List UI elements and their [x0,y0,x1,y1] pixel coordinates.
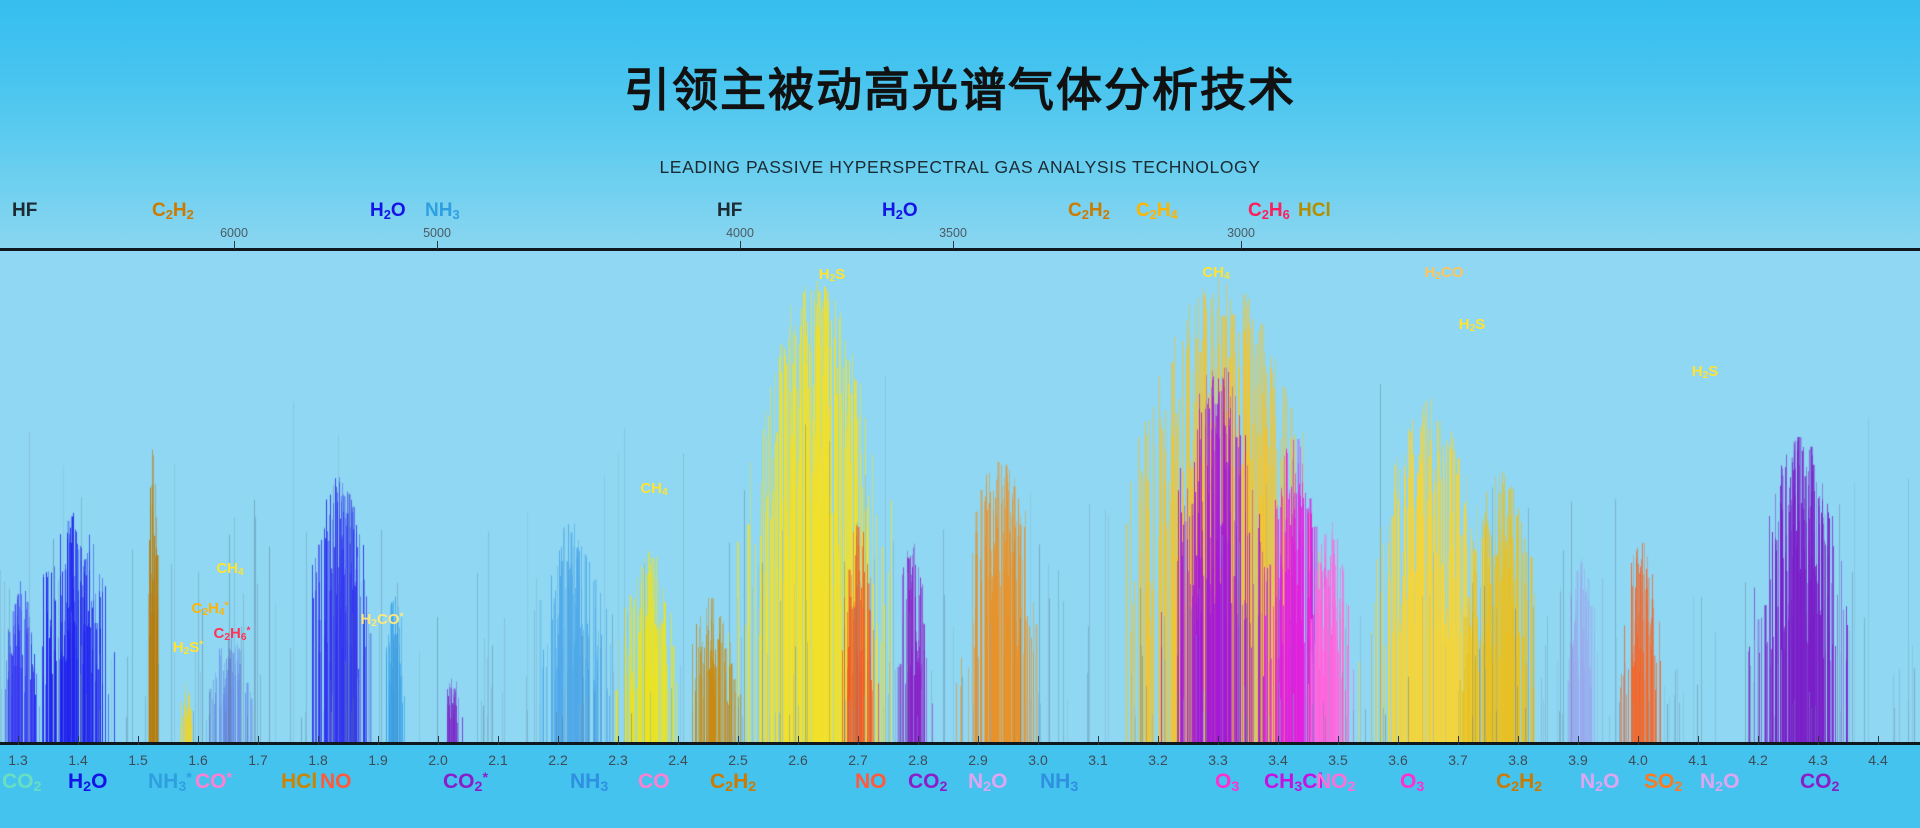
bottom-tick-mark [1398,736,1399,745]
bottom-tick-label: 4.2 [1748,752,1767,768]
bottom-species-label: NO [855,770,887,794]
bottom-species-label: C2H2 [710,770,756,795]
bottom-tick-label: 3.6 [1388,752,1407,768]
top-species-label: H2O [882,200,918,222]
top-species-label: HF [717,200,742,222]
top-tick-label: 3000 [1227,226,1255,240]
bottom-species-label: CO2* [443,770,488,795]
plot-annotation-label: C2H6* [214,625,251,643]
top-axis-line [0,248,1920,251]
bottom-tick-label: 3.2 [1148,752,1167,768]
bottom-tick-mark [918,736,919,745]
bottom-species-label: NH3* [148,770,192,795]
bottom-tick-label: 1.3 [8,752,27,768]
top-tick-mark [953,241,954,249]
sky-gradient-background [0,0,1920,249]
top-species-label: C2H6 [1248,200,1290,222]
bottom-tick-mark [1578,736,1579,745]
top-tick-label: 4000 [726,226,754,240]
bottom-tick-label: 3.5 [1328,752,1347,768]
bottom-tick-label: 3.8 [1508,752,1527,768]
bottom-tick-mark [138,736,139,745]
bottom-tick-mark [1638,736,1639,745]
top-species-label: HF [12,200,37,222]
bottom-tick-mark [738,736,739,745]
top-tick-mark [1241,241,1242,249]
bottom-species-label: CO* [195,770,232,794]
bottom-species-label: CO [638,770,670,794]
bottom-tick-label: 3.3 [1208,752,1227,768]
bottom-tick-mark [18,736,19,745]
bottom-tick-mark [78,736,79,745]
plot-annotation-label: H2S* [173,639,204,657]
bottom-tick-label: 3.0 [1028,752,1047,768]
bottom-species-label: H2O [68,770,107,795]
bottom-tick-mark [1878,736,1879,745]
bottom-tick-label: 1.5 [128,752,147,768]
bottom-tick-mark [1098,736,1099,745]
plot-annotation-label: CH4 [640,480,667,498]
bottom-tick-label: 2.7 [848,752,867,768]
bottom-species-label: N2O [1580,770,1619,795]
bottom-tick-label: 4.4 [1868,752,1887,768]
bottom-species-label: CH3Cl [1264,770,1323,795]
bottom-tick-label: 1.8 [308,752,327,768]
bottom-tick-mark [438,736,439,745]
bottom-tick-mark [978,736,979,745]
bottom-tick-mark [678,736,679,745]
bottom-species-label: N2O [968,770,1007,795]
bottom-tick-label: 2.6 [788,752,807,768]
bottom-tick-label: 2.5 [728,752,747,768]
top-species-label: H2O [370,200,406,222]
bottom-species-label: CO2 [908,770,947,795]
bottom-tick-label: 2.3 [608,752,627,768]
plot-annotation-label: CH4 [216,560,243,578]
bottom-tick-label: 1.6 [188,752,207,768]
plot-annotation-label: CH4 [1202,264,1229,282]
bottom-tick-label: 2.0 [428,752,447,768]
bottom-tick-label: 4.0 [1628,752,1647,768]
bottom-tick-mark [798,736,799,745]
page-title: 引领主被动高光谱气体分析技术 [0,54,1920,120]
top-tick-mark [740,241,741,249]
plot-annotation-label: H2CO [1424,264,1463,282]
bottom-tick-mark [558,736,559,745]
bottom-species-label: N2O [1700,770,1739,795]
top-species-label: NH3 [425,200,460,222]
bottom-tick-mark [1758,736,1759,745]
slide-root: 引领主被动高光谱气体分析技术 LEADING PASSIVE HYPERSPEC… [0,0,1920,828]
bottom-tick-label: 2.1 [488,752,507,768]
bottom-species-label: NO [320,770,352,794]
bottom-tick-mark [318,736,319,745]
bottom-tick-label: 3.1 [1088,752,1107,768]
bottom-species-label: NO2 [1316,770,1355,795]
bottom-tick-label: 2.8 [908,752,927,768]
bottom-tick-label: 1.7 [248,752,267,768]
bottom-species-label: CO2 [2,770,41,795]
bottom-tick-mark [858,736,859,745]
top-tick-label: 6000 [220,226,248,240]
bottom-tick-label: 1.9 [368,752,387,768]
top-tick-label: 5000 [423,226,451,240]
top-species-label: C2H2 [1068,200,1110,222]
bottom-tick-label: 3.4 [1268,752,1287,768]
top-species-label: C2H4 [1136,200,1178,222]
bottom-species-label: O3 [1400,770,1424,795]
plot-annotation-label: H2S [819,266,846,284]
bottom-tick-mark [1278,736,1279,745]
bottom-tick-label: 2.2 [548,752,567,768]
bottom-tick-label: 3.9 [1568,752,1587,768]
bottom-species-label: C2H2 [1496,770,1542,795]
bottom-axis-line [0,742,1920,745]
plot-annotation-label: H2CO* [361,611,404,629]
plot-annotation-label: H2S [1692,363,1719,381]
bottom-species-label: NH3 [1040,770,1078,795]
plot-annotation-label: H2S [1459,316,1486,334]
bottom-tick-label: 3.7 [1448,752,1467,768]
bottom-tick-mark [498,736,499,745]
top-species-label: C2H2 [152,200,194,222]
spectrum-canvas [0,249,1920,742]
bottom-tick-mark [1818,736,1819,745]
bottom-tick-mark [378,736,379,745]
bottom-tick-mark [1338,736,1339,745]
bottom-species-label: SO2 [1644,770,1682,795]
bottom-tick-label: 2.4 [668,752,687,768]
bottom-tick-mark [1698,736,1699,745]
bottom-tick-mark [198,736,199,745]
plot-annotation-label: C2H4* [192,600,229,618]
bottom-species-label: NH3 [570,770,608,795]
bottom-tick-label: 4.1 [1688,752,1707,768]
bottom-tick-mark [1218,736,1219,745]
top-species-label: HCl [1298,200,1331,222]
bottom-tick-mark [258,736,259,745]
bottom-tick-mark [1158,736,1159,745]
bottom-species-label: HCl [281,770,317,794]
bottom-tick-label: 1.4 [68,752,87,768]
bottom-tick-mark [1038,736,1039,745]
bottom-species-label: O3 [1215,770,1239,795]
top-tick-mark [234,241,235,249]
bottom-tick-mark [618,736,619,745]
top-tick-mark [437,241,438,249]
bottom-tick-mark [1518,736,1519,745]
bottom-tick-label: 2.9 [968,752,987,768]
page-subtitle: LEADING PASSIVE HYPERSPECTRAL GAS ANALYS… [0,157,1920,178]
top-tick-label: 3500 [939,226,967,240]
bottom-tick-label: 4.3 [1808,752,1827,768]
bottom-tick-mark [1458,736,1459,745]
bottom-species-label: CO2 [1800,770,1839,795]
